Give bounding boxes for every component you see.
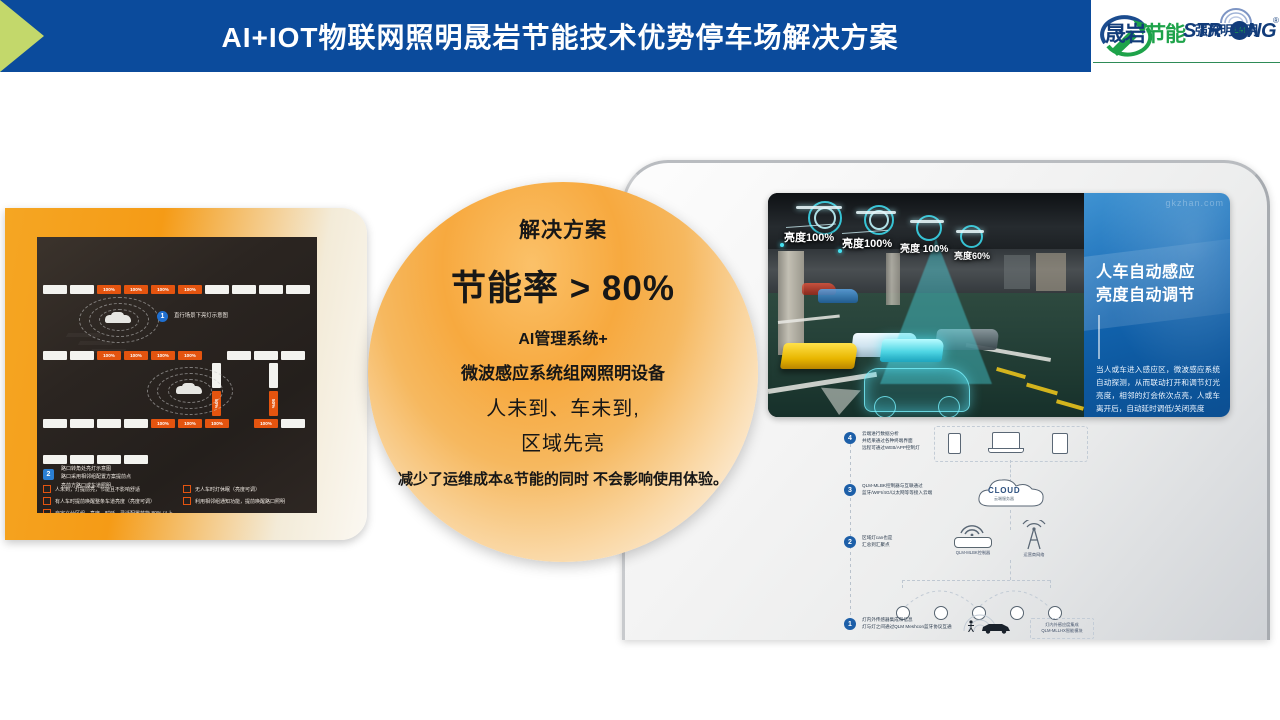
lamp-segment-on: 100% [151, 419, 175, 428]
oval-line4: 区域先亮 [521, 427, 605, 456]
step-text-2: 区域灯can也是 汇总到汇聚点 [862, 535, 892, 549]
lamp-segment [232, 285, 256, 294]
logo-tagline: 强流明照明 [1195, 20, 1258, 39]
vehicle-marker [105, 315, 131, 323]
garage-scene: 亮度100% 亮度100% 亮度 100% 亮度60% [768, 193, 1084, 417]
link-line [1010, 510, 1011, 530]
garage-pillar [778, 251, 804, 355]
step-text-4: 云端进行数据分析 并结果通过各种终端界面 远程可通过WEB/APP控制灯 [862, 431, 920, 452]
page-title: AI+IOT物联网照明晟岩节能技术优势停车场解决方案 [60, 0, 1060, 72]
legend-item: 人未到，灯提前亮，节能且不影响舒适 [43, 485, 140, 493]
parking-layout-diagram: 100% 100% 100% 100% 1 直行场景下亮灯示意图 100% 10… [37, 237, 317, 513]
lamp-segment-on: 100% [124, 285, 148, 294]
lamp-segment-on: 100% [151, 285, 175, 294]
legend-text: 利用相邻组通知功能，提前唤醒路口照明 [195, 498, 285, 505]
feature-blue-panel: gkzhan.com 人车自动感应 亮度自动调节 当人或车进入感应区，微波感应系… [1084, 193, 1230, 417]
lamp-segment-on: 100% [178, 351, 202, 360]
parking-garage-photo: 亮度100% 亮度100% 亮度 100% 亮度60% gkzhan.com 人… [768, 193, 1230, 417]
lamp-segment [43, 419, 67, 428]
lux-dot [780, 243, 784, 247]
lamp-segment [205, 285, 229, 294]
vehicle-icon [980, 622, 1012, 634]
cloud-label: CLOUD [988, 486, 1020, 495]
slide-root: AI+IOT物联网照明晟岩节能技术优势停车场解决方案 晟岩节能 STR LM N… [0, 0, 1280, 720]
logo-underline [1093, 62, 1280, 63]
lamp-ring-icon [916, 215, 942, 241]
vehicle-marker [176, 386, 202, 394]
ghost-car-outline [864, 368, 970, 412]
lamp-segment-vertical-dim: 50% [269, 391, 278, 416]
legend-item: 利用相邻组通知功能，提前唤醒路口照明 [183, 497, 285, 505]
oval-line5: 减少了运维成本&节能的同时 不会影响使用体验。 [398, 468, 728, 491]
lamp-segment [70, 285, 94, 294]
registered-mark: ® [1273, 16, 1279, 25]
lamp-segment [70, 351, 94, 360]
lamp-segment-on: 100% [178, 285, 202, 294]
lux-label: 亮度100% [784, 229, 834, 245]
legend-item: 自定义分区组、亮度、时延，灵活配置节能 80% 以上 [43, 509, 173, 513]
step-badge-1: 1 [844, 618, 856, 630]
legend-text: 有人车时提前唤醒整条车道亮度（亮度可调） [55, 498, 155, 505]
lamp-segment [97, 419, 121, 428]
garage-window [1004, 255, 1030, 289]
laptop-base-icon [988, 448, 1024, 453]
logo-cn-part2: 节能 [1145, 23, 1185, 46]
car-blue [818, 289, 858, 303]
step-badge-2: 2 [844, 536, 856, 548]
lamp-segment-on: 100% [97, 285, 121, 294]
tower-caption: 运营商网络 [1008, 552, 1060, 558]
antenna-tower-icon [1018, 520, 1050, 550]
lux-dot [838, 249, 842, 253]
panel-heading-line2: 亮度自动调节 [1096, 284, 1195, 307]
lamp-bar-icon [796, 206, 842, 209]
lux-label: 亮度60% [954, 249, 990, 262]
left-orange-card: 100% 100% 100% 100% 1 直行场景下亮灯示意图 100% 10… [5, 208, 367, 540]
lamp-segment-on: 100% [151, 351, 175, 360]
callout-badge-1: 1 [157, 311, 168, 322]
lamp-segment [70, 419, 94, 428]
lamp-bar-icon [956, 230, 984, 233]
watermark: gkzhan.com [1165, 198, 1224, 208]
mesh-bus-line [902, 580, 1050, 581]
phone-icon [948, 433, 961, 454]
lamp-node [1010, 606, 1024, 620]
logo-chinese-name: 晟岩节能 [1105, 18, 1185, 48]
chevron-icon [0, 0, 44, 72]
lamp-segment-on: 100% [205, 419, 229, 428]
lamp-segment [227, 351, 251, 360]
panel-heading-line1: 人车自动感应 [1096, 261, 1195, 284]
oval-line1: AI管理系统+ [518, 325, 607, 349]
panel-divider [1098, 315, 1100, 359]
header-bar: AI+IOT物联网照明晟岩节能技术优势停车场解决方案 [0, 0, 1091, 72]
router-icon [954, 537, 992, 548]
lamp-segment [286, 285, 310, 294]
lamp-segment [97, 455, 121, 464]
legend-bullet-icon [43, 485, 51, 493]
lamp-segment-on: 100% [97, 351, 121, 360]
node-tag-box: 灯内外感应度集成 QLM-MLLHX智能模块 [1030, 618, 1094, 639]
legend-item: 有人车时提前唤醒整条车道亮度（亮度可调） [43, 497, 155, 505]
lamp-segment [124, 419, 148, 428]
legend-text: 无人车时灯休眠（亮度可调） [195, 486, 260, 493]
oval-title: 解决方案 [519, 214, 607, 244]
lamp-segment [70, 455, 94, 464]
logo-cn-part1: 晟岩 [1105, 23, 1145, 46]
lamp-segment [254, 351, 278, 360]
pedestrian-icon [966, 620, 976, 632]
lamp-bar-icon [910, 220, 944, 223]
network-topology-diagram: 4 云端进行数据分析 并结果通过各种终端界面 远程可通过WEB/APP控制灯 3… [836, 424, 1094, 636]
garage-window [1036, 253, 1066, 291]
oval-line2: 微波感应系统组网照明设备 [461, 359, 665, 384]
lux-label: 亮度 100% [900, 240, 948, 255]
lamp-segment [259, 285, 283, 294]
cloud-sublabel: 云端服务器 [994, 496, 1014, 502]
callout-note-1: 直行场景下亮灯示意图 [174, 312, 228, 321]
lamp-segment [43, 351, 67, 360]
lamp-segment-on: 100% [124, 351, 148, 360]
lamp-segment [281, 351, 305, 360]
legend-bullet-icon [183, 497, 191, 505]
step-text-1: 灯内外传感器集成和信息 灯与灯之间通过QLM Meshcon蓝牙协议互通 [862, 617, 952, 631]
lamp-segment-on: 100% [254, 419, 278, 428]
oval-line3: 人未到、车未到, [486, 392, 640, 421]
router-caption: QLM-MLBK控制器 [944, 550, 1002, 556]
panel-body-text: 当人或车进入感应区，微波感应系统自动探测，从而联动打开和调节灯光亮度，相邻的灯会… [1096, 363, 1220, 415]
step-text-3: QLM-MLBK控制器与互联通过 蓝牙/WIFI/4G/以太网等等接入云端 [862, 483, 932, 497]
legend-item: 无人车时灯休眠（亮度可调） [183, 485, 260, 493]
car-yellow [780, 343, 858, 369]
wifi-icon [958, 522, 986, 536]
lamp-segment-on: 100% [178, 419, 202, 428]
panel-heading: 人车自动感应 亮度自动调节 [1096, 261, 1195, 307]
legend-text: 人未到，灯提前亮，节能且不影响舒适 [55, 486, 140, 493]
lamp-segment [43, 455, 67, 464]
tablet-icon [1052, 433, 1068, 454]
step-badge-3: 3 [844, 484, 856, 496]
legend-text: 自定义分区组、亮度、时延，灵活配置节能 80% 以上 [55, 510, 173, 514]
step-badge-4: 4 [844, 432, 856, 444]
lamp-ring-icon [960, 225, 983, 248]
link-line [1010, 560, 1011, 580]
legend-bullet-icon [43, 509, 51, 513]
callout-badge-2: 2 [43, 469, 54, 480]
lamp-segment [43, 285, 67, 294]
car-highlighted [880, 339, 945, 362]
legend-bullet-icon [183, 485, 191, 493]
lux-label: 亮度100% [842, 235, 892, 251]
lamp-bar-icon [856, 211, 896, 214]
timeline-axis [850, 432, 851, 620]
brand-logo: 晟岩节能 STR LM NG ® 强流明照明 [1091, 0, 1280, 72]
legend-bullet-icon [43, 497, 51, 505]
solution-oval-callout: 解决方案 节能率 > 80% AI管理系统+ 微波感应系统组网照明设备 人未到、… [368, 182, 758, 562]
lamp-segment-vertical [269, 363, 278, 388]
floor-arrow-icon [819, 388, 861, 417]
lamp-segment [281, 419, 305, 428]
mesh-arcs [892, 582, 1062, 608]
oval-headline: 节能率 > 80% [451, 260, 675, 311]
lamp-segment [124, 455, 148, 464]
